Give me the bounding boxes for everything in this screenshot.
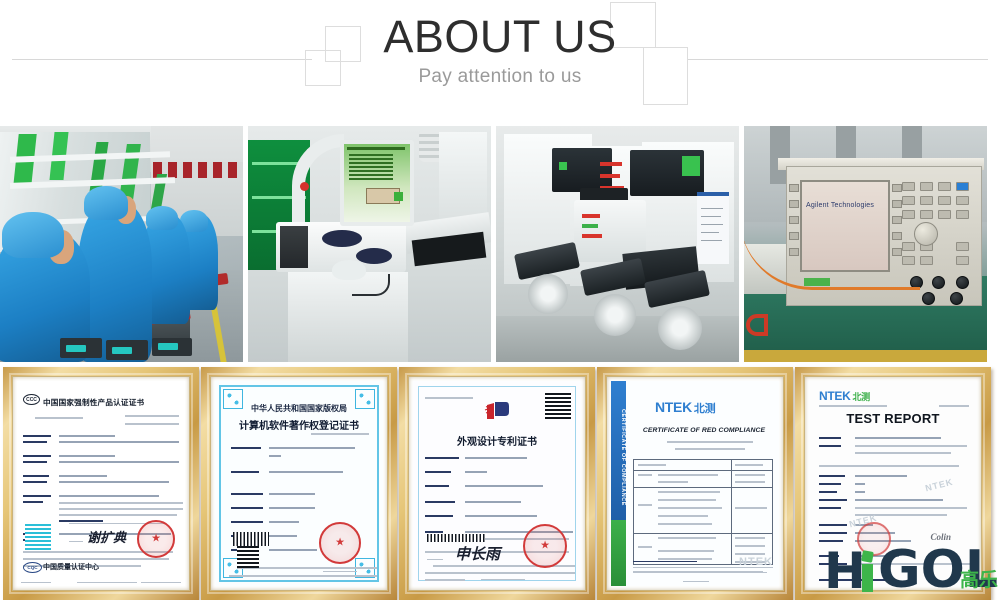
screen-status-indicator [394, 192, 403, 201]
machine-monitor [340, 140, 414, 226]
cell-standard-9 [658, 550, 714, 552]
patent-field-value-1 [465, 457, 527, 459]
ccc-field-value-2 [59, 455, 115, 457]
ccc-field-value-3b [59, 481, 169, 483]
key-17 [956, 256, 969, 265]
cell-label [638, 474, 652, 476]
cqc-mark-icon: CQC [23, 562, 42, 573]
ccc-model-line-3 [59, 508, 183, 510]
body-label-1 [582, 214, 600, 218]
soft-key-l2 [789, 200, 799, 208]
software-field-label-5 [231, 521, 263, 523]
component-reel-1 [528, 274, 568, 314]
frame-mat: 中华人民共和国国家版权局 计算机软件著作权登记证书 [210, 376, 388, 591]
cnipa-logo-icon [484, 401, 510, 423]
ccc-field-label-3b [23, 481, 47, 483]
report-field-value-2b [855, 452, 951, 454]
screen-title-bar [347, 147, 405, 150]
ntek-logo-cn: 北测 [852, 392, 869, 402]
cell-standard-4 [658, 499, 716, 501]
worker-cap-1 [2, 212, 64, 258]
software-copyright-document: 中华人民共和国国家版权局 计算机软件著作权登记证书 [215, 381, 383, 586]
patent-field-label-6 [425, 531, 443, 533]
body-label-2 [582, 224, 598, 228]
patent-field-label-3 [425, 485, 449, 487]
ccc-model-line-4 [59, 514, 177, 516]
logo-chinese-name: 高乐 [960, 565, 998, 592]
patent-sign-label-2 [427, 559, 443, 561]
cell-report-1 [735, 474, 765, 476]
machine-oval-inlay-1 [322, 230, 362, 247]
clipboard-documents [697, 192, 729, 264]
ntek-logo: NTEK北测 [655, 399, 715, 416]
ccc-field-value-3 [59, 475, 107, 477]
key-4 [902, 196, 915, 205]
machine-oval-inlay-2 [356, 248, 392, 264]
ccc-red-seal: ★ [137, 520, 175, 558]
software-field-value-6 [269, 535, 297, 537]
patent-note-line-2 [425, 572, 575, 574]
compliance-sidebar-green [611, 520, 626, 586]
doc-line-1 [701, 208, 723, 209]
ccc-meta-left [35, 417, 83, 419]
component-reel-2 [594, 294, 636, 336]
ccc-field-label-4 [23, 495, 51, 497]
worker-cap-3 [146, 206, 178, 230]
red-company-address-2 [633, 572, 767, 574]
patent-field-label-2 [425, 471, 451, 473]
cell-label [638, 546, 652, 548]
doc-line-5 [701, 240, 722, 241]
cell-standard-2 [658, 481, 688, 483]
report-field-value-3 [855, 475, 907, 477]
patent-field-label-4 [425, 501, 455, 503]
ntek-logo: NTEK北测 [819, 389, 870, 403]
cell-standard-8 [658, 537, 716, 539]
patent-barcode [427, 534, 485, 542]
seal-star-icon: ★ [335, 538, 345, 549]
screen-text-rows [349, 154, 393, 180]
key-14 [956, 242, 969, 251]
key-10 [938, 210, 951, 219]
ccc-footer-center [77, 582, 137, 584]
rf-port-5 [950, 292, 963, 305]
key-11 [956, 210, 969, 219]
ccc-field-label-3 [23, 475, 49, 477]
pcb-board-3 [158, 343, 178, 350]
pcb-board-1 [66, 345, 86, 352]
ccc-field-value-2b [59, 461, 179, 463]
bench-edge-trim [744, 350, 987, 362]
software-field-label-3 [231, 493, 263, 495]
table-col-header-1 [638, 464, 666, 466]
facility-photo-gallery: Agilent Technologies [0, 126, 1000, 362]
design-patent-document: 外观设计专利证书 [413, 381, 581, 586]
table-header-row [634, 460, 772, 471]
ccc-field-value-1 [59, 435, 115, 437]
cell-report-2 [735, 481, 765, 483]
worker-cap-2 [84, 186, 128, 220]
ntek-watermark: NTEK [739, 556, 773, 568]
ccc-meta-right-1 [125, 415, 179, 417]
patent-sign-label-1 [427, 551, 443, 553]
key-5 [920, 196, 933, 205]
ntek-logo-n: NTEK [819, 389, 850, 403]
about-us-page: ABOUT US Pay attention to us [0, 0, 1000, 600]
software-cert-title: 计算机软件著作权登记证书 [215, 417, 383, 432]
software-field-label-4 [231, 507, 263, 509]
page-title: ABOUT US [0, 12, 1000, 62]
patent-footer [481, 579, 525, 581]
compliance-sidebar-label: CERTIFICATE OF COMPLIANCE [611, 381, 626, 520]
software-field-value-1b [269, 455, 281, 457]
key-1 [902, 182, 915, 191]
patent-field-label-1 [425, 457, 459, 459]
table-row [634, 488, 772, 534]
key-6 [938, 196, 951, 205]
report-field-label-5 [819, 491, 837, 493]
table-row [634, 471, 772, 488]
ccc-signature: 谢扩典 [87, 527, 126, 546]
red-directive-line [667, 441, 753, 443]
software-red-seal: ★ [319, 522, 361, 564]
compliance-standards-table [633, 459, 773, 565]
patent-signature: 申长雨 [455, 543, 500, 564]
report-field-label-3 [819, 475, 845, 477]
green-label-small [559, 162, 567, 170]
key-9 [920, 210, 933, 219]
ccc-field-label-2b [23, 461, 47, 463]
ccc-signature-label [69, 541, 83, 543]
monitor-screen [344, 144, 410, 222]
report-field-label-8 [819, 524, 847, 526]
report-field-label-1 [819, 437, 841, 439]
doc-line-3 [701, 224, 723, 225]
doc-line-2 [701, 216, 721, 217]
ccc-issuer-name: 中国质量认证中心 [43, 562, 99, 572]
patent-number [425, 397, 473, 399]
ccc-qr-code [25, 524, 51, 550]
patent-field-value-4 [465, 501, 521, 503]
software-field-value-5 [269, 521, 299, 523]
emergency-stop-button [300, 182, 309, 191]
software-field-value-3 [269, 493, 315, 495]
report-field-label-4 [819, 483, 841, 485]
software-note-line-2 [229, 575, 377, 577]
report-field-value-7a [855, 507, 967, 509]
agilent-screen-logo: Agilent Technologies [806, 202, 886, 209]
software-cert-number [311, 433, 369, 435]
cell-label [638, 504, 652, 506]
patent-field-value-2 [465, 471, 487, 473]
ccc-model-line-2 [59, 502, 183, 504]
certificate-frame-software-copyright: 中华人民共和国国家版权局 计算机软件著作权登记证书 [201, 367, 397, 600]
component-reel-3 [658, 306, 702, 350]
patent-red-seal: ★ [523, 524, 567, 568]
logo-letter-h: H [824, 546, 866, 596]
photo-agilent-test-equipment: Agilent Technologies [744, 126, 987, 362]
key-7 [956, 196, 969, 205]
key-3 [938, 182, 951, 191]
report-field-value-4 [855, 483, 865, 485]
frame-mat: CERTIFICATE OF COMPLIANCE NTEK北测 CERTIFI… [606, 376, 784, 591]
report-intro-line [819, 465, 959, 467]
doc-line-4 [701, 232, 719, 233]
ccc-model-line-1 [59, 495, 159, 497]
higole-logo: H GOLE 高乐 [822, 528, 1000, 600]
photo-smt-inspection-machine [248, 126, 491, 362]
ntek-logo-cn: 北测 [694, 403, 715, 415]
seal-star-icon: ★ [540, 541, 550, 552]
cell-standard-3 [658, 491, 720, 493]
software-field-value-2 [269, 471, 343, 473]
frame-mat: 外观设计专利证书 [408, 376, 586, 591]
certificate-frame-red-compliance: CERTIFICATE OF COMPLIANCE NTEK北测 CERTIFI… [597, 367, 793, 600]
key-2 [920, 182, 933, 191]
software-seal-date [323, 571, 357, 573]
report-number-line [819, 405, 887, 407]
industrial-pc [280, 226, 308, 268]
ccc-field-label-1b [23, 441, 47, 443]
table-col-header-2 [735, 464, 763, 466]
page-subtitle: Pay attention to us [0, 66, 1000, 88]
green-label-large [682, 156, 700, 176]
red-reference-line [675, 448, 745, 450]
ccc-footer-right [141, 582, 181, 584]
machine-base [288, 272, 408, 362]
ntek-logo-n: NTEK [655, 399, 692, 415]
cell-standard-1 [658, 474, 718, 476]
red-cable-loop [746, 314, 768, 336]
ccc-field-label-4b [23, 501, 43, 503]
patent-field-label-5 [425, 515, 453, 517]
ccc-field-value-1b [59, 441, 179, 443]
software-field-label-1 [231, 447, 261, 449]
cell-standard-6 [658, 515, 708, 517]
ccc-certificate-document: CCC 中国国家强制性产品认证证书 [17, 381, 185, 586]
ccc-meta-right-2 [125, 423, 179, 425]
seal-star-icon: ★ [151, 534, 161, 545]
ccc-field-label-2 [23, 455, 51, 457]
patent-note-line-3 [425, 579, 465, 581]
red-compliance-title: CERTIFICATE OF RED COMPLIANCE [635, 427, 773, 434]
software-qr-code [237, 546, 259, 568]
photo-assembly-line [0, 126, 243, 362]
photo-pick-and-place-machines [496, 126, 739, 362]
cell-standard-5 [658, 507, 722, 509]
body-label-3 [582, 234, 602, 238]
report-page-line [939, 405, 969, 407]
cell-standard-7 [658, 523, 712, 525]
software-field-value-4 [269, 507, 315, 509]
frame-mat: CCC 中国国家强制性产品认证证书 [12, 376, 190, 591]
report-field-label-7 [819, 507, 841, 509]
ccc-mark-icon: CCC [23, 394, 40, 405]
cell-report-6 [735, 553, 765, 555]
software-barcode [233, 532, 269, 546]
report-field-value-6 [855, 499, 943, 501]
key-blue [956, 182, 969, 191]
patent-field-value-3 [465, 485, 543, 487]
cell-report-4 [735, 537, 765, 539]
report-field-value-1 [855, 437, 941, 439]
logo-i-stem-icon [862, 564, 873, 592]
design-patent-title: 外观设计专利证书 [413, 433, 581, 448]
red-page-number [683, 581, 709, 583]
red-compliance-document: CERTIFICATE OF COMPLIANCE NTEK北测 CERTIFI… [611, 381, 779, 586]
pcb-board-2 [112, 347, 132, 354]
red-company-name [633, 561, 697, 563]
rf-port-2 [932, 276, 945, 289]
certificate-frame-ccc: CCC 中国国家强制性产品认证证书 [3, 367, 199, 600]
report-field-label-6 [819, 499, 847, 501]
patent-field-value-5 [465, 515, 537, 517]
page-header: ABOUT US Pay attention to us [0, 0, 1000, 120]
ccc-certificate-title: 中国国家强制性产品认证证书 [43, 397, 179, 408]
report-field-value-2a [855, 445, 967, 447]
patent-qr-code [545, 393, 571, 419]
ccc-footer-left [21, 582, 51, 584]
software-field-value-7 [269, 549, 317, 551]
software-field-value-1 [269, 447, 355, 449]
certificate-frame-design-patent: 外观设计专利证书 [399, 367, 595, 600]
software-field-label-2 [231, 471, 259, 473]
red-warning-label-2 [600, 174, 620, 178]
cell-standard-10 [658, 558, 712, 560]
key-16 [920, 256, 933, 265]
software-cert-authority: 中华人民共和国国家版权局 [215, 403, 383, 414]
header-text-block: ABOUT US Pay attention to us [0, 12, 1000, 88]
ccc-note-line-2 [23, 558, 169, 560]
cell-report-3 [735, 507, 767, 509]
cell-report-5 [735, 545, 765, 547]
rf-port-3 [956, 276, 969, 289]
logo-i-dot-icon [861, 550, 874, 563]
ccc-field-label-1 [23, 435, 51, 437]
report-field-label-2 [819, 445, 841, 447]
soft-key-l1 [789, 184, 799, 192]
rf-port-4 [922, 292, 935, 305]
report-field-value-5 [855, 491, 865, 493]
test-report-title: TEST REPORT [809, 411, 977, 426]
red-warning-label-1 [600, 162, 622, 166]
mouse-cable [352, 274, 390, 296]
report-watermark-2: NTEK [924, 477, 954, 494]
